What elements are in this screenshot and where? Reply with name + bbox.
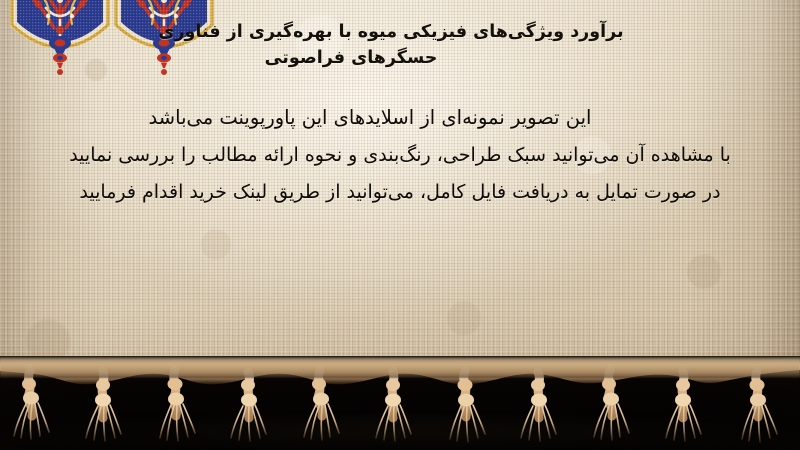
- presentation-slide: برآورد ویژگی‌های فیزیکی میوه با بهره‌گیر…: [0, 0, 800, 450]
- title-line-2: حسگرهای فراصوتی: [20, 46, 762, 72]
- carpet-fringe-border: [0, 356, 800, 450]
- body-line-3: در صورت تمایل به دریافت فایل کامل، می‌تو…: [0, 183, 800, 202]
- slide-body: این تصویر نمونه‌ای از اسلایدهای این پاور…: [0, 108, 800, 220]
- slide-text-layer: برآورد ویژگی‌های فیزیکی میوه با بهره‌گیر…: [0, 0, 800, 388]
- slide-title: برآورد ویژگی‌های فیزیکی میوه با بهره‌گیر…: [20, 20, 780, 72]
- fringe-selvedge-band: [0, 356, 800, 378]
- body-line-2: با مشاهده آن می‌توانید سبک طراحی، رنگ‌بن…: [0, 146, 800, 165]
- body-line-1: این تصویر نمونه‌ای از اسلایدهای این پاور…: [0, 108, 800, 128]
- title-line-1: برآورد ویژگی‌های فیزیکی میوه با بهره‌گیر…: [20, 20, 762, 46]
